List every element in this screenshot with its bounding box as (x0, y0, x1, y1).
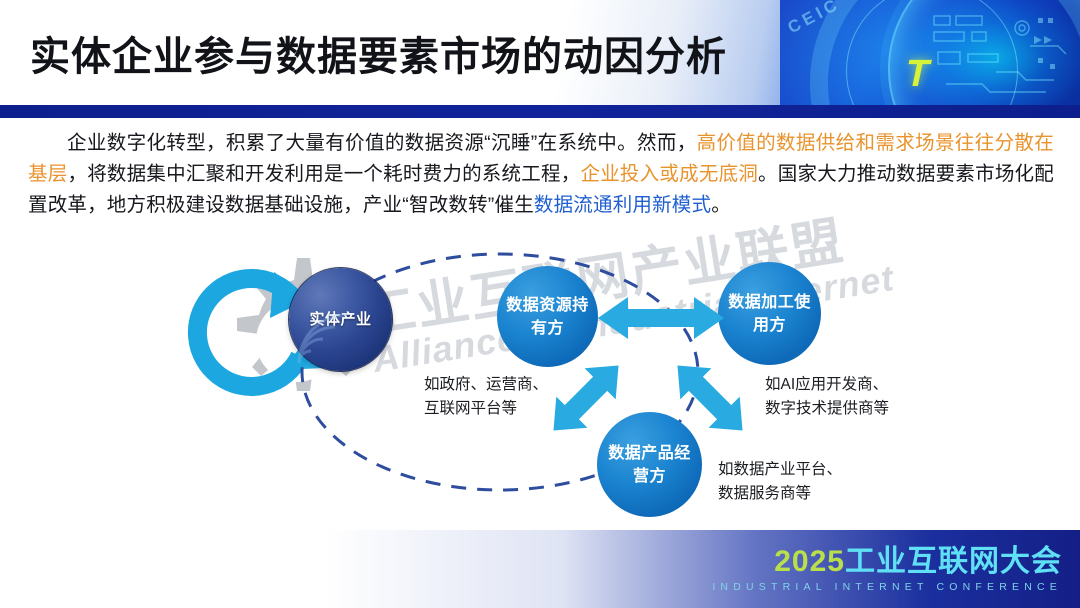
caption-line: 如数据产业平台、 (718, 458, 842, 482)
body-text-part-2: ，将数据集中汇聚和开发利用是一个耗时费力的系统工程， (67, 163, 580, 185)
node-label: 数据资源持有方 (497, 294, 598, 340)
body-highlight-orange-2: 企业投入或成无底洞 (580, 163, 758, 185)
node-label: 数据产品经营方 (597, 442, 702, 488)
page-title: 实体企业参与数据要素市场的动因分析 (30, 24, 727, 82)
arrow-operator-to-user-icon (664, 352, 756, 444)
slide-root: CEIC T (0, 0, 1080, 608)
caption-data-product-operator: 如数据产业平台、 数据服务商等 (718, 458, 842, 506)
conference-logo-main: 2025工业互联网大会 (712, 547, 1062, 577)
arrow-holder-to-operator-icon (540, 352, 632, 444)
caption-line: 数据服务商等 (718, 482, 842, 506)
body-text-part-4: 。 (711, 194, 731, 216)
arrow-holder-to-user-icon (598, 295, 724, 341)
node-entity-industry[interactable]: 实体产业 (289, 268, 392, 371)
header-divider-rule (0, 105, 1080, 118)
caption-line: 数字技术提供商等 (765, 397, 889, 421)
body-text-part-1: 企业数字化转型，积累了大量有价值的数据资源“沉睡”在系统中。然而， (67, 132, 697, 154)
caption-line: 如政府、运营商、 (424, 373, 548, 397)
slide-header: CEIC T (0, 0, 1080, 105)
header-tech-graphic: CEIC T (780, 0, 1080, 105)
signal-wave-icon (295, 311, 367, 367)
slide-footer: 2025工业互联网大会 INDUSTRIAL INTERNET CONFEREN… (0, 530, 1080, 608)
header-circuit-icon (926, 6, 1076, 101)
conference-logo-year: 2025 (774, 545, 845, 578)
node-label: 数据加工使用方 (718, 291, 821, 337)
body-paragraph: 企业数字化转型，积累了大量有价值的数据资源“沉睡”在系统中。然而，高价值的数据供… (28, 128, 1054, 221)
caption-data-resource-holder: 如政府、运营商、 互联网平台等 (424, 373, 548, 421)
body-highlight-blue-1: 数据流通利用新模式 (534, 194, 711, 216)
node-data-processing-user[interactable]: 数据加工使用方 (718, 262, 821, 365)
conference-logo: 2025工业互联网大会 INDUSTRIAL INTERNET CONFEREN… (712, 547, 1062, 593)
caption-data-processing-user: 如AI应用开发商、 数字技术提供商等 (765, 373, 889, 421)
caption-line: 如AI应用开发商、 (765, 373, 889, 397)
caption-line: 互联网平台等 (424, 397, 548, 421)
conference-logo-chinese: 工业互联网大会 (845, 545, 1062, 578)
conference-logo-subtitle: INDUSTRIAL INTERNET CONFERENCE (712, 582, 1062, 593)
